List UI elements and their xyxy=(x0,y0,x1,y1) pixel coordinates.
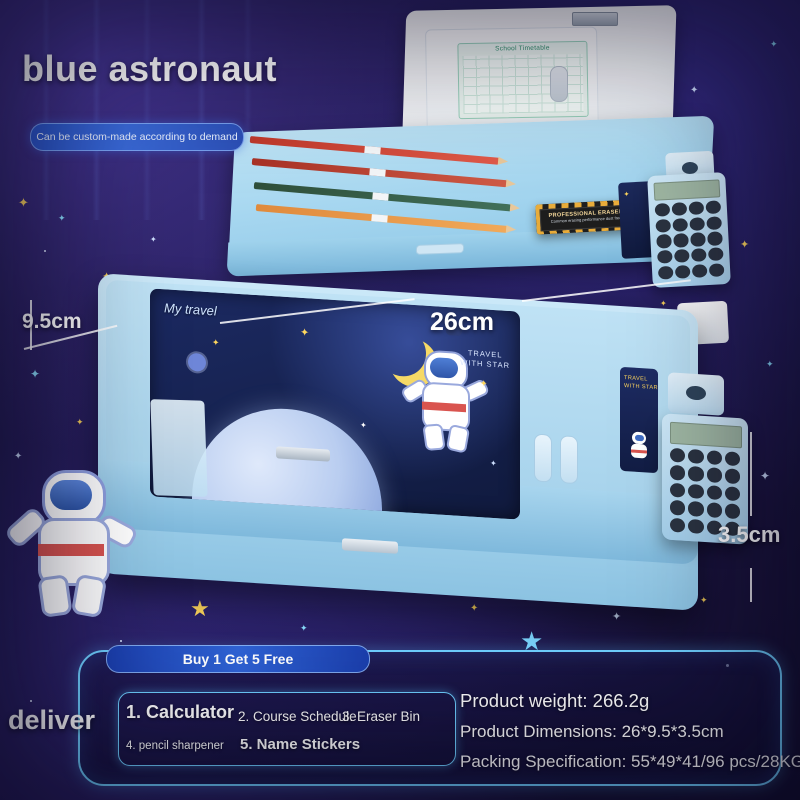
star-icon: ✦ xyxy=(623,190,629,198)
small-planet-graphic xyxy=(188,353,206,372)
star-icon: ✦ xyxy=(300,328,309,340)
dimension-height-label: 3.5cm xyxy=(718,522,780,548)
gift-item-name-stickers: 5. Name Stickers xyxy=(240,736,360,753)
star-icon: ✦ xyxy=(30,368,40,380)
star-icon: ✦ xyxy=(770,40,778,49)
pen-slot-tray xyxy=(530,429,618,495)
star-icon: ✦ xyxy=(360,422,367,430)
dimension-line-height-top xyxy=(750,432,752,516)
gift-item-calculator: 1. Calculator xyxy=(126,702,234,723)
star-icon: ✦ xyxy=(18,196,29,209)
star-dot xyxy=(44,250,46,252)
dimension-line-height-bottom xyxy=(750,568,752,602)
star-icon: ✦ xyxy=(58,214,66,223)
calculator-keypad xyxy=(655,200,725,279)
mini-astronaut-graphic xyxy=(628,431,650,462)
star-icon: ✦ xyxy=(14,452,22,462)
calculator-screen xyxy=(653,179,720,200)
star-dot xyxy=(120,640,122,642)
sharpener-hole xyxy=(686,385,706,400)
name-sticker-card: TRAVEL WITH STAR xyxy=(620,367,658,473)
calculator-screen xyxy=(670,422,742,449)
custom-made-badge: Can be custom-made according to demand xyxy=(30,123,244,151)
dimension-width-label: 9.5cm xyxy=(22,310,82,334)
lid-latch xyxy=(572,12,618,26)
school-timetable-card: School Timetable xyxy=(457,41,588,119)
astronaut-mascot xyxy=(8,470,134,620)
gift-item-pencil-sharpener: 4. pencil sharpener xyxy=(126,740,224,752)
open-pencil-case-photo: School Timetable PROFESSIONAL ERASER Com… xyxy=(236,6,756,306)
dimension-length-label: 26cm xyxy=(430,308,494,337)
artwork-brand-text: My travel xyxy=(164,301,217,319)
case-inner-flap xyxy=(150,399,207,497)
star-dot xyxy=(30,700,32,702)
artwork-side-tag: TRAVEL WITH STAR xyxy=(460,348,510,371)
pen-slot xyxy=(534,433,552,482)
spec-product-dimensions: Product Dimensions: 26*9.5*3.5cm xyxy=(460,722,724,742)
lid-hinge-button xyxy=(550,66,568,102)
star-icon: ✦ xyxy=(766,360,774,369)
page-title: blue astronaut xyxy=(22,48,277,90)
spec-packing-specification: Packing Specification: 55*49*41/96 pcs/2… xyxy=(460,752,800,772)
star-icon: ✦ xyxy=(150,236,157,244)
star-icon: ✦ xyxy=(760,470,770,482)
deliver-label: deliver xyxy=(8,705,95,736)
tray-slot xyxy=(416,243,465,255)
timetable-title: School Timetable xyxy=(458,44,586,53)
sticker-card-label: TRAVEL WITH STAR xyxy=(624,375,658,393)
gift-item-course-schedule: 2. Course Schedule xyxy=(238,709,357,724)
star-icon: ✦ xyxy=(76,418,84,427)
sharpener-hole xyxy=(682,162,699,175)
custom-made-badge-label: Can be custom-made according to demand xyxy=(36,131,237,143)
pen-slot xyxy=(560,435,578,484)
product-promo-image: ✦ ✦ ✦ ✦ ✦ ✦ ✦ ✦ ★ ✦ ✦ ✦ ★ ✦ ✦ ✦ ✦ ✦ ✦ ✦ … xyxy=(0,0,800,800)
star-icon: ✦ xyxy=(490,460,497,468)
gift-item-eraser-bin: 3. Eraser Bin xyxy=(342,709,420,724)
spec-product-weight: Product weight: 266.2g xyxy=(460,690,649,712)
free-gift-banner-label: Buy 1 Get 5 Free xyxy=(183,651,294,667)
pencil-sharpener-main xyxy=(668,372,724,416)
calculator-top xyxy=(647,172,731,288)
star-icon: ✦ xyxy=(212,338,220,347)
closed-pencil-case-photo: My travel TRAVEL WITH STAR ✦ ✦ ✦ ✦ ✦ TRA… xyxy=(92,282,712,626)
free-gift-banner: Buy 1 Get 5 Free xyxy=(106,645,370,673)
